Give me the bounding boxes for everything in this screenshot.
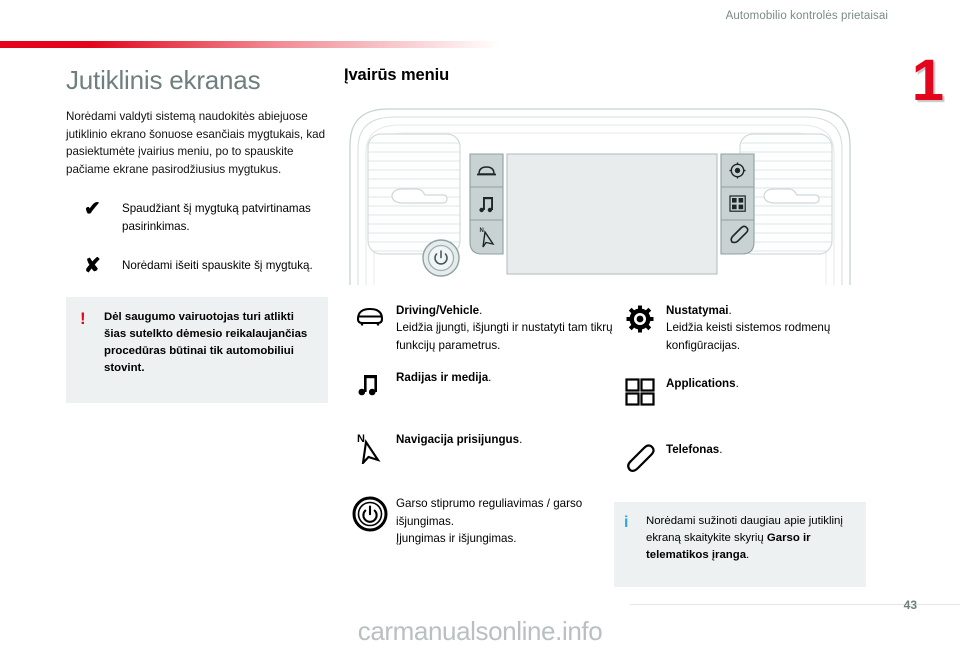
info-text: Norėdami sužinoti daugiau apie jutiklinį… [646, 513, 854, 564]
warning-exclamation-icon: ! [80, 309, 104, 377]
warning-callout: ! Dėl saugumo vairuotojas turi atlikti š… [66, 297, 328, 403]
menu-item-settings: Nustatymai. Leidžia keisti sistemos rodm… [614, 301, 884, 354]
menu-item-volume-power: Garso stiprumo reguliavimas / garso išju… [344, 494, 614, 547]
svg-text:N: N [357, 433, 365, 445]
section-title-menus: Įvairūs meniu [344, 66, 884, 85]
header-red-rule [0, 41, 500, 48]
svg-text:N: N [480, 228, 484, 234]
chapter-number: 1 [912, 52, 942, 110]
check-icon: ✔ [66, 198, 122, 220]
left-column: Jutiklinis ekranas Norėdami valdyti sist… [66, 66, 328, 403]
page-title: Jutiklinis ekranas [66, 66, 328, 96]
menu-item-label: Telefonas. [666, 441, 884, 458]
apps-grid-icon [614, 374, 666, 418]
menu-column-left: Driving/Vehicle. Leidžia įjungti, išjung… [344, 301, 614, 587]
menu-item-label: Driving/Vehicle. [396, 302, 614, 319]
music-note-icon [344, 368, 396, 412]
power-knob-icon [344, 494, 396, 538]
info-icon: i [624, 513, 646, 564]
right-column: Įvairūs meniu [344, 66, 884, 587]
bullet-confirm: ✔ Spaudžiant šį mygtuką patvirtinamas pa… [66, 198, 328, 235]
site-watermark: carmanualsonline.info [0, 616, 960, 647]
bullet-exit-text: Norėdami išeiti spauskite šį mygtuką. [122, 255, 328, 274]
menu-item-navigation: N Navigacija prisijungus. [344, 430, 614, 478]
navigation-compass-icon: N [344, 430, 396, 474]
menu-item-desc: Garso stiprumo reguliavimas / garso išju… [396, 495, 614, 547]
power-knob-icon [423, 240, 459, 276]
menu-item-label: Applications. [666, 375, 884, 392]
page-number: 43 [904, 598, 917, 612]
phone-handset-icon [614, 440, 666, 484]
menu-item-desc: Leidžia įjungti, išjungti ir nustatyti t… [396, 319, 614, 354]
menu-item-radio-media: Radijas ir medija. [344, 368, 614, 416]
menu-item-desc: Leidžia keisti sistemos rodmenų konfigūr… [666, 319, 884, 354]
menu-column-right: Nustatymai. Leidžia keisti sistemos rodm… [614, 301, 884, 587]
menu-item-telephone: Telefonas. [614, 440, 884, 488]
info-callout: i Norėdami sužinoti daugiau apie jutikli… [614, 502, 866, 586]
intro-paragraph: Norėdami valdyti sistemą naudokitės abie… [66, 108, 328, 178]
menu-lists: Driving/Vehicle. Leidžia įjungti, išjung… [344, 301, 884, 587]
warning-text: Dėl saugumo vairuotojas turi atlikti šia… [104, 309, 314, 377]
menu-item-driving-vehicle: Driving/Vehicle. Leidžia įjungti, išjung… [344, 301, 614, 354]
menu-item-applications: Applications. [614, 374, 884, 422]
header-chapter-title: Automobilio kontrolės prietaisai [726, 10, 888, 22]
bullet-confirm-text: Spaudžiant šį mygtuką patvirtinamas pasi… [122, 198, 328, 235]
car-icon [344, 301, 396, 345]
menu-item-label: Radijas ir medija. [396, 369, 614, 386]
menu-item-label: Navigacija prisijungus. [396, 431, 614, 448]
gear-icon [614, 301, 666, 345]
car-dashboard-illustration: N [340, 99, 860, 289]
bullet-exit: ✘ Norėdami išeiti spauskite šį mygtuką. [66, 255, 328, 277]
menu-item-label: Nustatymai. [666, 302, 884, 319]
cross-icon: ✘ [66, 255, 122, 277]
